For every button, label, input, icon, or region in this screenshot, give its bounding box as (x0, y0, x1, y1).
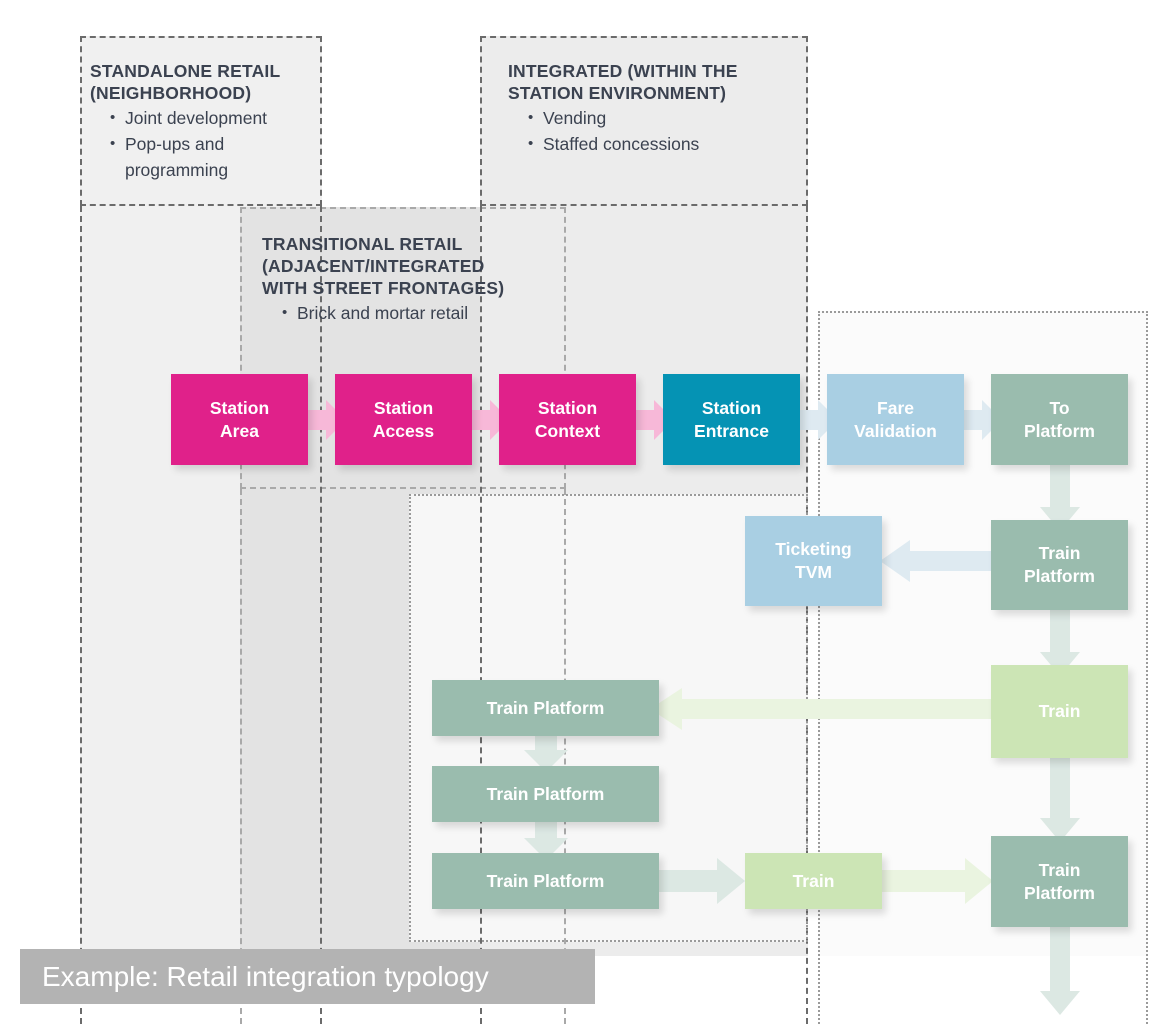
arrow-train-to-train-platform-left (650, 688, 996, 730)
bullet-item: Vending (528, 105, 808, 131)
annotation-title: TRANSITIONAL RETAIL (ADJACENT/INTEGRATED… (262, 233, 562, 299)
annotation-bullets: Brick and mortar retail (262, 300, 562, 326)
node-label-line: Area (210, 420, 269, 443)
node-train-platform-row2[interactable]: Train Platform (991, 520, 1128, 610)
node-label-line: Station (210, 397, 269, 420)
node-to-platform[interactable]: To Platform (991, 374, 1128, 465)
node-label-line: TVM (775, 561, 852, 584)
node-label-line: Platform (1024, 565, 1095, 588)
node-train-platform-b[interactable]: Train Platform (432, 766, 659, 822)
arrow-train-platform-bottom-down (1040, 925, 1080, 1015)
node-ticketing-tvm[interactable]: Ticketing TVM (745, 516, 882, 606)
node-label-line: Train Platform (487, 697, 605, 720)
arrow-train-down-to-train-platform (1040, 748, 1080, 842)
annotation-bullets: Vending Staffed concessions (508, 105, 808, 157)
node-label-line: Train Platform (487, 783, 605, 806)
annotation-title: INTEGRATED (WITHIN THE STATION ENVIRONME… (508, 60, 808, 104)
node-label-line: Station (535, 397, 600, 420)
annotation-standalone-retail: STANDALONE RETAIL (NEIGHBORHOOD) Joint d… (90, 60, 322, 183)
node-label-line: Access (373, 420, 434, 443)
node-label-line: Fare (854, 397, 937, 420)
node-label-line: Station (373, 397, 434, 420)
arrow-train-platform-to-ticketing (880, 540, 996, 582)
node-label-line: Ticketing (775, 538, 852, 561)
node-label-line: Validation (854, 420, 937, 443)
bullet-item: Joint development (110, 105, 322, 131)
node-label-line: Entrance (694, 420, 769, 443)
node-label-line: Train (1024, 859, 1095, 882)
annotation-title: STANDALONE RETAIL (NEIGHBORHOOD) (90, 60, 322, 104)
annotation-transitional-retail: TRANSITIONAL RETAIL (ADJACENT/INTEGRATED… (262, 233, 562, 326)
node-label-line: Platform (1024, 882, 1095, 905)
arrow-train-to-platform-right (881, 858, 993, 904)
node-label-line: To (1024, 397, 1095, 420)
node-label-line: Train (1024, 542, 1095, 565)
annotation-bullets: Joint development Pop-ups and programmin… (90, 105, 322, 183)
node-station-context[interactable]: Station Context (499, 374, 636, 465)
node-label-line: Train (793, 870, 835, 893)
zone-line-transitional-left (240, 489, 242, 1024)
node-train-right[interactable]: Train (991, 665, 1128, 758)
caption-bar: Example: Retail integration typology (20, 949, 595, 1004)
node-label-line: Station (694, 397, 769, 420)
node-label-line: Platform (1024, 420, 1095, 443)
node-station-access[interactable]: Station Access (335, 374, 472, 465)
node-label-line: Context (535, 420, 600, 443)
node-train-platform-a[interactable]: Train Platform (432, 680, 659, 736)
zone-line-standalone-right (320, 206, 322, 1024)
node-train-platform-bottom-right[interactable]: Train Platform (991, 836, 1128, 927)
bullet-item: Staffed concessions (528, 131, 808, 157)
node-station-area[interactable]: Station Area (171, 374, 308, 465)
node-train-bottom[interactable]: Train (745, 853, 882, 909)
node-label-line: Train Platform (487, 870, 605, 893)
bullet-item: Brick and mortar retail (282, 300, 562, 326)
bullet-item: Pop-ups and programming (110, 131, 322, 183)
arrow-platform-c-to-train (655, 858, 745, 904)
node-station-entrance[interactable]: Station Entrance (663, 374, 800, 465)
diagram-canvas: STANDALONE RETAIL (NEIGHBORHOOD) Joint d… (0, 0, 1166, 1032)
node-label-line: Train (1039, 700, 1081, 723)
node-train-platform-c[interactable]: Train Platform (432, 853, 659, 909)
zone-line-standalone-left (80, 206, 82, 1024)
node-fare-validation[interactable]: Fare Validation (827, 374, 964, 465)
annotation-integrated-station: INTEGRATED (WITHIN THE STATION ENVIRONME… (508, 60, 808, 157)
